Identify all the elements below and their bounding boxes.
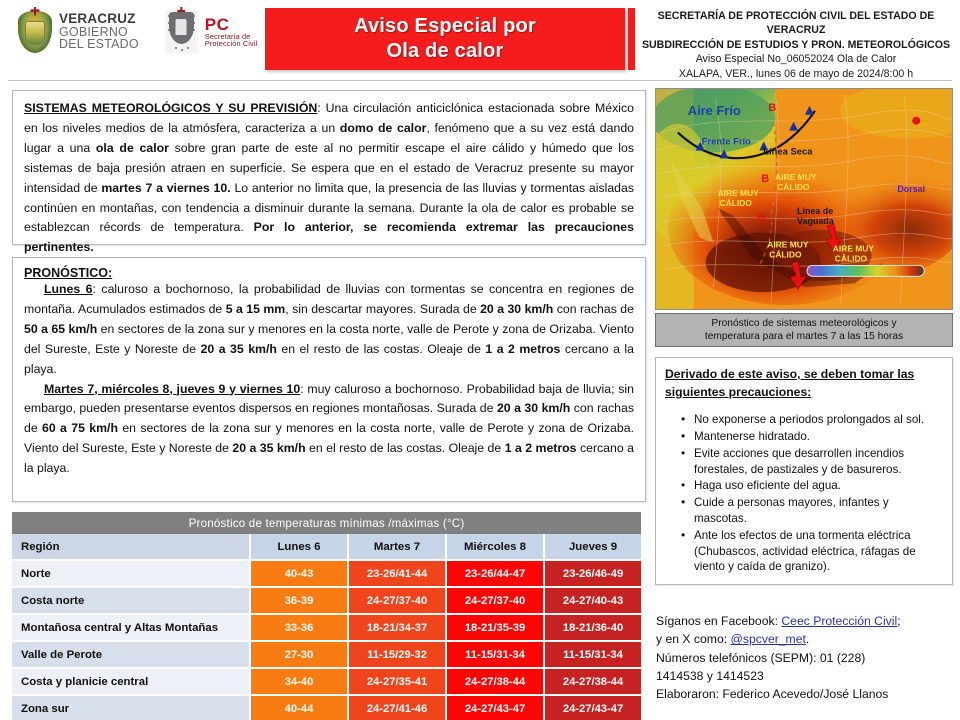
precaucion-item: Cuide a personas mayores, infantes y mas… [681,495,943,527]
precauciones-box: Derivado de este aviso, se deben tomar l… [655,357,953,585]
footer-x-suffix: . [806,632,809,646]
day1-b5: 1 a 2 metros [485,342,560,356]
map-label-aire-calido-3: AIRE MUY [767,240,809,250]
x-twitter-link[interactable]: @spcver_met [731,632,806,646]
footer-x-line: y en X como: @spcver_met. [656,630,956,648]
pronostico-day2-paragraph: Martes 7, miércoles 8, jueves 9 y vierne… [24,380,634,480]
sistemas-b3: martes 7 a viernes 10. [101,181,230,195]
logo-veracruz: VERACRUZ GOBIERNO DEL ESTADO [18,11,139,53]
agency-header-text: SECRETARÍA DE PROTECCIÓN CIVIL DEL ESTAD… [636,9,956,81]
alert-title-line1: Aviso Especial por [354,15,536,38]
cell-temp-value: 24-27/37-40 [348,587,446,614]
precaucion-item: Evite acciones que desarrollen incendios… [681,446,943,478]
svg-text:CÁLIDO: CÁLIDO [777,182,810,192]
map-label-dorsal: Dorsal [897,184,925,194]
cell-temp-value: 24-27/41-46 [348,695,446,720]
table-row: Zona sur40-4424-27/41-4624-27/43-4724-27… [12,695,642,720]
map-caption: Pronóstico de sistemas meteorológicos y … [655,313,953,347]
day1-b3: 50 a 65 km/h [24,322,97,336]
day2-label: Martes 7, miércoles 8, jueves 9 y vierne… [44,382,300,396]
cell-temp-value: 23-26/46-49 [544,560,642,587]
map-label-aire-frio: Aire Frío [688,103,741,118]
map-caption-line1: Pronóstico de sistemas meteorológicos y [711,317,896,330]
logo-group: VERACRUZ GOBIERNO DEL ESTADO PC [18,10,257,53]
table-row: Valle de Perote27-3011-15/29-3211-15/31-… [12,641,642,668]
pc-sub2: Protección Civil [205,40,258,47]
day1-t5: en el resto de las costas. Oleaje de [277,342,485,356]
day1-t2: , sin descartar mayores. Surada de [285,302,480,316]
shield-dots-decoration [165,10,198,53]
map-low-b3: B [757,212,765,224]
footer-fb-prefix: Síganos en Facebook: [656,614,781,628]
cell-region: Norte [12,560,250,587]
header-red-accent-bar [628,8,635,70]
footer-facebook-line: Síganos en Facebook: Ceec Protección Civ… [656,612,956,630]
pronostico-heading: PRONÓSTICO: [24,266,634,280]
day2-b1: 20 a 30 km/h [497,401,570,415]
map-color-scale [807,265,924,276]
pc-abbr: PC [205,16,258,33]
alert-title-line2: Ola de calor [387,40,504,63]
day1-t3: con rachas de [553,302,634,316]
sistemas-b1: domo de calor [340,121,427,135]
agency-line-1: SECRETARÍA DE PROTECCIÓN CIVIL DEL ESTAD… [636,9,956,38]
cell-temp-value: 24-27/43-47 [544,695,642,720]
cell-temp-value: 36-39 [250,587,348,614]
table-row: Norte40-4323-26/41-4423-26/44-4723-26/46… [12,560,642,587]
cell-temp-value: 24-27/37-40 [446,587,544,614]
table-header-row: Región Lunes 6 Martes 7 Miércoles 8 Juev… [12,534,642,560]
day2-b2: 60 a 75 km/h [42,421,118,435]
sistemas-meteorologicos-box: SISTEMAS METEOROLÓGICOS Y SU PREVISIÓN: … [12,90,646,245]
col-header-region: Región [12,534,250,560]
alert-title-banner: Aviso Especial por Ola de calor [265,8,625,70]
cell-temp-value: 23-26/44-47 [446,560,544,587]
cell-temp-value: 24-27/35-41 [348,668,446,695]
map-label-frente-frio: Frente Frío [702,136,751,147]
table-row: Costa y planicie central34-4024-27/35-41… [12,668,642,695]
precaucion-item: Haga uso eficiente del agua. [681,478,943,494]
cell-temp-value: 23-26/41-44 [348,560,446,587]
cell-temp-value: 40-44 [250,695,348,720]
precaucion-item: Ante los efectos de una tormenta eléctri… [681,528,943,575]
table-title: Pronóstico de temperaturas mínimas /máxi… [12,512,642,534]
logo-proteccion-civil: PC Secretaría de Protección Civil [165,10,258,53]
footer-phones-line2: 1414538 y 1414523 [656,667,956,685]
footer-fb-suffix: ; [897,614,900,628]
cell-region: Costa y planicie central [12,668,250,695]
day2-b3: 20 a 35 km/h [232,441,305,455]
aviso-especial-page: VERACRUZ GOBIERNO DEL ESTADO PC [0,0,960,720]
svg-text:Vaguada: Vaguada [797,216,835,226]
precaucion-item: No exponerse a periodos prolongados al s… [681,412,943,428]
svg-text:CÁLIDO: CÁLIDO [769,249,802,259]
agency-line-4: XALAPA, VER., lunes 06 de mayo de 2024/8… [636,67,956,81]
cell-temp-value: 18-21/34-37 [348,614,446,641]
precauciones-list: No exponerse a periodos prolongados al s… [665,412,943,575]
footer-contact-block: Síganos en Facebook: Ceec Protección Civ… [656,612,956,703]
veracruz-wordmark: VERACRUZ GOBIERNO DEL ESTADO [59,12,139,51]
map-label-linea-vaguada: Línea de [797,206,833,216]
day2-b4: 1 a 2 metros [505,441,577,455]
agency-line-3: Aviso Especial No_06052024 Ola de Calor [636,52,956,66]
cell-temp-value: 11-15/31-34 [544,641,642,668]
map-low-b2: B [761,173,769,185]
map-caption-line2: temperatura para el martes 7 a las 15 ho… [705,330,903,343]
col-header-lunes: Lunes 6 [250,534,348,560]
day1-label: Lunes 6 [44,282,93,296]
cell-temp-value: 11-15/29-32 [348,641,446,668]
col-header-jueves: Jueves 9 [544,534,642,560]
table-title-row: Pronóstico de temperaturas mínimas /máxi… [12,512,642,534]
pc-wordmark: PC Secretaría de Protección Civil [205,16,258,48]
footer-phones-line1: Números telefónicos (SEPM): 01 (228) [656,649,956,667]
weather-map-image: B B B Aire Frío Frente Frío Línea Seca L… [655,88,953,310]
weather-map-svg: B B B Aire Frío Frente Frío Línea Seca L… [656,89,952,309]
pronostico-day1-paragraph: Lunes 6: caluroso a bochornoso, la proba… [24,280,634,380]
cell-region: Valle de Perote [12,641,250,668]
day1-b1: 5 a 15 mm [226,302,286,316]
precauciones-heading-line1: Derivado de este aviso, se deben tomar l… [665,367,914,381]
col-header-miercoles: Miércoles 8 [446,534,544,560]
map-label-linea-seca: Línea Seca [763,145,813,156]
cell-temp-value: 33-36 [250,614,348,641]
veracruz-line3: DEL ESTADO [59,38,139,51]
veracruz-shield-icon [18,11,52,53]
cell-temp-value: 34-40 [250,668,348,695]
cell-region: Zona sur [12,695,250,720]
footer-authors: Elaboraron: Federico Acevedo/José Llanos [656,685,956,703]
day1-b2: 20 a 30 km/h [480,302,553,316]
precauciones-heading: Derivado de este aviso, se deben tomar l… [665,366,943,401]
sistemas-paragraph: SISTEMAS METEOROLÓGICOS Y SU PREVISIÓN: … [24,99,634,258]
cell-region: Costa norte [12,587,250,614]
cell-temp-value: 24-27/38-44 [544,668,642,695]
cell-temp-value: 24-27/40-43 [544,587,642,614]
map-label-aire-calido-2: AIRE MUY [718,188,760,198]
col-header-martes: Martes 7 [348,534,446,560]
proteccion-civil-shield-icon [165,10,198,53]
svg-text:CÁLIDO: CÁLIDO [835,253,868,263]
map-label-aire-calido-1: AIRE MUY [775,172,817,182]
footer-x-prefix: y en X como: [656,632,731,646]
precaucion-item: Mantenerse hidratado. [681,429,943,445]
agency-line-2: SUBDIRECCIÓN DE ESTUDIOS Y PRON. METEORO… [636,38,956,52]
cell-temp-value: 18-21/36-40 [544,614,642,641]
map-low-b1: B [768,102,776,114]
sistemas-b2: ola de calor [96,141,169,155]
map-label-aire-calido-4: AIRE MUY [833,244,875,254]
cell-region: Montañosa central y Altas Montañas [12,614,250,641]
cell-temp-value: 18-21/35-39 [446,614,544,641]
cell-temp-value: 24-27/43-47 [446,695,544,720]
header-divider [8,80,952,81]
day1-b4: 20 a 35 km/h [201,342,277,356]
table-row: Montañosa central y Altas Montañas33-361… [12,614,642,641]
svg-text:CÁLIDO: CÁLIDO [720,198,753,208]
page-header: VERACRUZ GOBIERNO DEL ESTADO PC [0,0,960,82]
cell-temp-value: 24-27/38-44 [446,668,544,695]
day2-t4: en el resto de las costas. Oleaje de [306,441,505,455]
table-row: Costa norte36-3924-27/37-4024-27/37-4024… [12,587,642,614]
cell-temp-value: 40-43 [250,560,348,587]
cell-temp-value: 11-15/31-34 [446,641,544,668]
temperature-forecast-table: Pronóstico de temperaturas mínimas /máxi… [12,512,643,720]
cell-temp-value: 27-30 [250,641,348,668]
sistemas-heading: SISTEMAS METEOROLÓGICOS Y SU PREVISIÓN [24,101,317,115]
pronostico-box: PRONÓSTICO: Lunes 6: caluroso a bochorno… [12,257,646,502]
veracruz-line1: VERACRUZ [59,12,139,26]
facebook-link[interactable]: Ceec Protección Civil [781,614,897,628]
precauciones-heading-line2: siguientes precauciones: [665,385,811,399]
